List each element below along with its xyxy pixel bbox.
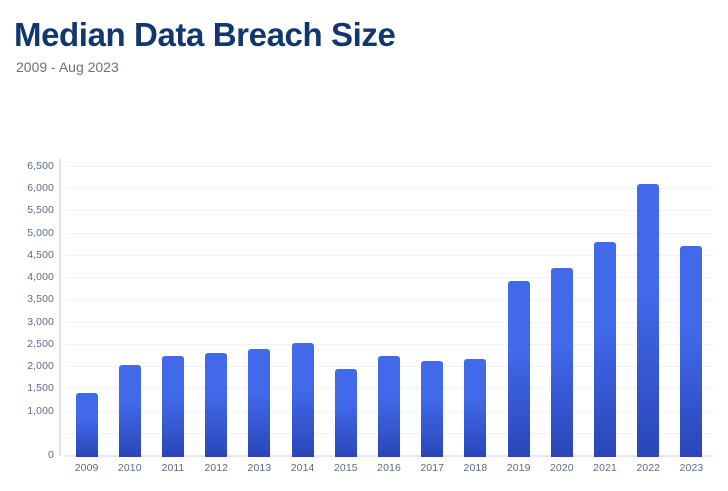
chart-plot-wrapper: 6,5006,0005,5005,0004,5004,0003,5003,000…: [0, 150, 728, 491]
y-axis-tick-label: 6,000: [27, 182, 54, 194]
bar-slot: [627, 166, 670, 457]
chart-page: Median Data Breach Size 2009 - Aug 2023 …: [0, 0, 728, 491]
bar-slot: [454, 166, 497, 457]
bar-2010[interactable]: [119, 365, 141, 457]
y-axis-tick-label: 2,000: [27, 360, 54, 372]
bar-slot: [497, 166, 540, 457]
bar-2011[interactable]: [162, 356, 184, 457]
bar-2017[interactable]: [421, 361, 443, 457]
y-axis-tick-label: 3,000: [27, 316, 54, 328]
x-axis-tick-label: 2022: [627, 462, 670, 486]
y-axis-tick-label: 1,500: [27, 382, 54, 394]
y-axis-tick-labels: 6,5006,0005,5005,0004,5004,0003,5003,000…: [0, 150, 60, 450]
bar-slot: [583, 166, 626, 457]
bar-2022[interactable]: [637, 184, 659, 457]
y-axis-tick-label: 5,000: [27, 227, 54, 239]
page-title: Median Data Breach Size: [14, 16, 714, 54]
bar-2023[interactable]: [680, 246, 702, 457]
bar-2015[interactable]: [335, 369, 357, 457]
y-axis-tick-label: 1,000: [27, 405, 54, 417]
bar-2012[interactable]: [205, 353, 227, 457]
bar-2018[interactable]: [464, 359, 486, 457]
bar-slot: [65, 166, 108, 457]
bar-2009[interactable]: [76, 393, 98, 457]
y-axis-tick-label: 0: [48, 449, 54, 461]
y-axis-tick-label: 2,500: [27, 338, 54, 350]
bar-slot: [238, 166, 281, 457]
bar-slot: [324, 166, 367, 457]
y-axis-tick-label: 6,500: [27, 160, 54, 172]
bar-slot: [195, 166, 238, 457]
chart-bars: [65, 166, 713, 457]
y-axis-tick-label: 3,500: [27, 293, 54, 305]
x-axis-tick-label: 2012: [195, 462, 238, 486]
bar-2014[interactable]: [292, 343, 314, 457]
x-axis-tick-label: 2016: [367, 462, 410, 486]
chart-subtitle: 2009 - Aug 2023: [16, 58, 714, 76]
x-axis-tick-label: 2021: [583, 462, 626, 486]
bar-2020[interactable]: [551, 268, 573, 457]
x-axis-tick-label: 2009: [65, 462, 108, 486]
bar-slot: [670, 166, 713, 457]
x-axis-tick-label: 2015: [324, 462, 367, 486]
bar-2019[interactable]: [508, 281, 530, 457]
bar-slot: [108, 166, 151, 457]
bar-slot: [151, 166, 194, 457]
x-axis-tick-label: 2014: [281, 462, 324, 486]
x-axis-tick-label: 2018: [454, 462, 497, 486]
y-axis-tick-label: 4,000: [27, 271, 54, 283]
y-axis-tick-label: 4,500: [27, 249, 54, 261]
bar-slot: [540, 166, 583, 457]
x-axis-tick-label: 2011: [151, 462, 194, 486]
y-axis-tick-label: 5,500: [27, 204, 54, 216]
x-axis-tick-label: 2013: [238, 462, 281, 486]
bar-slot: [411, 166, 454, 457]
x-axis-tick-label: 2020: [540, 462, 583, 486]
x-axis-tick-label: 2017: [411, 462, 454, 486]
x-axis-tick-label: 2023: [670, 462, 713, 486]
bar-2016[interactable]: [378, 356, 400, 457]
bar-2013[interactable]: [248, 349, 270, 457]
bar-slot: [281, 166, 324, 457]
chart-header: Median Data Breach Size 2009 - Aug 2023: [14, 16, 714, 76]
x-axis-tick-label: 2019: [497, 462, 540, 486]
x-axis-tick-labels: 2009201020112012201320142015201620172018…: [65, 462, 713, 486]
bar-slot: [367, 166, 410, 457]
bar-2021[interactable]: [594, 242, 616, 457]
x-axis-tick-label: 2010: [108, 462, 151, 486]
